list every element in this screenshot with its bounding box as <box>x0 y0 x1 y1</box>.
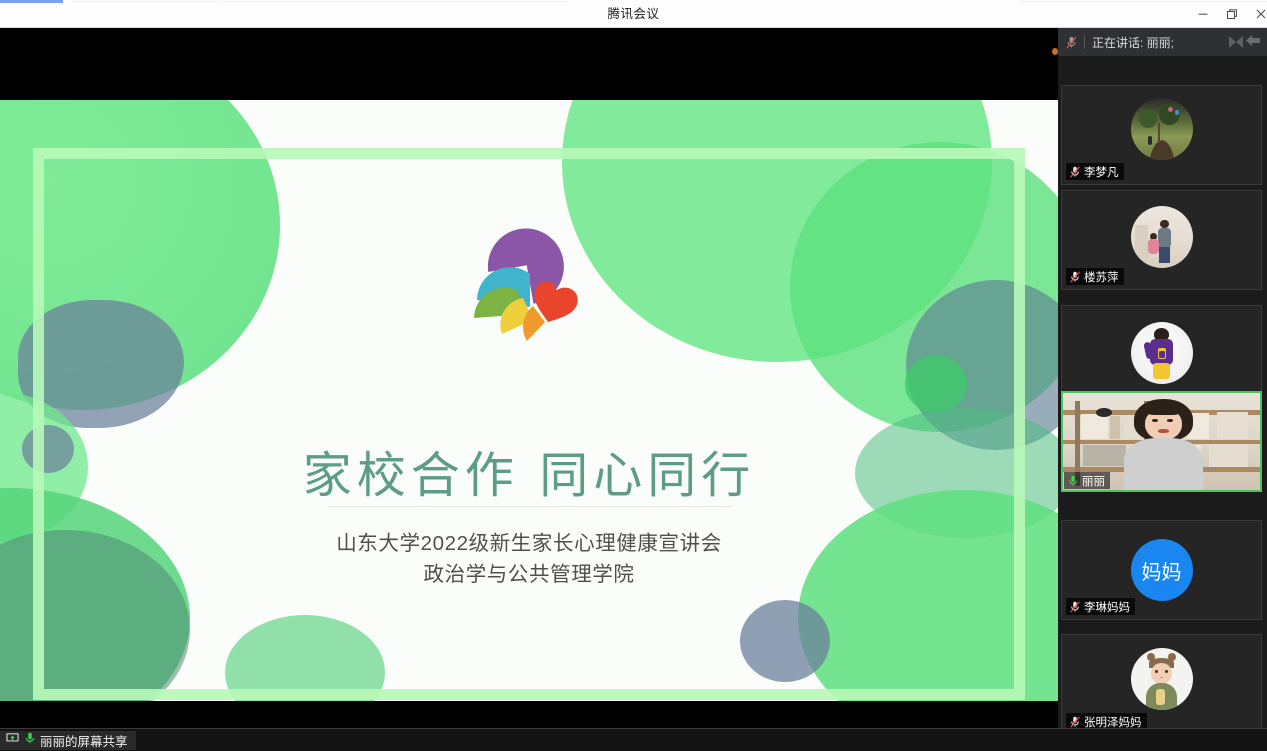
participant-name-badge: 楼苏萍 <box>1066 268 1124 285</box>
mic-muted-icon <box>1068 715 1082 729</box>
mic-on-icon <box>23 731 37 750</box>
collapse-arrows-icon[interactable] <box>1223 28 1267 56</box>
shared-screen-stage[interactable]: 家校合作 同心同行 山东大学2022级新生家长心理健康宣讲会 政治学与公共管理学… <box>0 28 1058 728</box>
participant-name-badge: 丽丽 <box>1064 472 1110 489</box>
participant-name: 李琳妈妈 <box>1084 599 1130 615</box>
avatar <box>1131 206 1193 268</box>
avatar <box>1131 322 1193 384</box>
slide-subtitle: 山东大学2022级新生家长心理健康宣讲会 政治学与公共管理学院 <box>0 528 1058 590</box>
screen-share-icon <box>5 731 20 750</box>
participant-tile[interactable]: 妈妈 李琳妈妈 <box>1061 520 1262 620</box>
window-titlebar: 腾讯会议 <box>0 0 1267 28</box>
slide-subtitle-line2: 政治学与公共管理学院 <box>0 559 1058 590</box>
participant-name-badge: 李梦凡 <box>1066 163 1124 180</box>
participants-panel: 正在讲话: 丽丽; <box>1058 28 1267 728</box>
maximize-button[interactable] <box>1217 0 1246 28</box>
mic-muted-icon <box>1068 165 1082 179</box>
participant-tile[interactable]: 楼苏萍 <box>1061 190 1262 290</box>
avatar-initials-text: 妈妈 <box>1142 556 1182 585</box>
mic-muted-icon <box>1068 600 1082 614</box>
share-indicator-dot <box>1052 48 1058 55</box>
speaking-label: 正在讲话: 丽丽; <box>1092 34 1223 51</box>
close-icon <box>1255 8 1267 20</box>
header-divider <box>1084 35 1085 49</box>
mic-muted-icon <box>1058 28 1084 56</box>
participant-name: 楼苏萍 <box>1084 269 1119 285</box>
close-button[interactable] <box>1246 0 1267 28</box>
share-status-text: 丽丽的屏幕共享 <box>40 731 128 750</box>
participant-name-badge: 李琳妈妈 <box>1066 598 1135 615</box>
avatar <box>1131 98 1193 160</box>
participant-name: 李梦凡 <box>1084 164 1119 180</box>
participant-name: 丽丽 <box>1082 473 1105 489</box>
minimize-icon <box>1197 8 1209 20</box>
participant-tile[interactable]: 李梦凡 <box>1061 85 1262 185</box>
multicolor-petal-heart-logo <box>455 222 605 372</box>
avatar <box>1131 648 1193 710</box>
presentation-slide: 家校合作 同心同行 山东大学2022级新生家长心理健康宣讲会 政治学与公共管理学… <box>0 100 1058 701</box>
title-divider <box>328 506 732 507</box>
restore-icon <box>1226 8 1238 20</box>
participant-tile-active-speaker[interactable]: 丽丽 <box>1061 391 1262 492</box>
participant-tile[interactable]: 张明泽妈妈 <box>1061 634 1262 735</box>
app-title: 腾讯会议 <box>0 0 1267 28</box>
mic-on-icon <box>1066 474 1080 488</box>
speaking-status-bar: 正在讲话: 丽丽; <box>1058 28 1267 56</box>
slide-subtitle-line1: 山东大学2022级新生家长心理健康宣讲会 <box>0 528 1058 559</box>
share-status-bar: 丽丽的屏幕共享 <box>0 728 1267 751</box>
avatar-initials: 妈妈 <box>1131 539 1193 601</box>
minimize-button[interactable] <box>1188 0 1217 28</box>
mic-muted-icon <box>1068 270 1082 284</box>
slide-title: 家校合作 同心同行 <box>0 436 1058 507</box>
